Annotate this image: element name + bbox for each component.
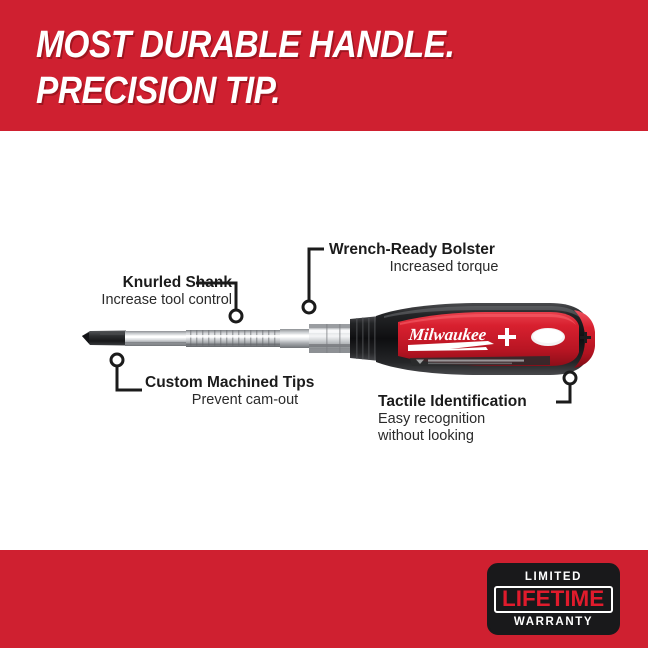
callout-tactile-identification: Tactile Identification Easy recognition … xyxy=(378,393,578,445)
callout-knurled-shank: Knurled Shank Increase tool control xyxy=(62,274,232,309)
callout-knurled-shank-subtitle: Increase tool control xyxy=(62,292,232,309)
callout-tactile-identification-subtitle: Easy recognition xyxy=(378,411,578,428)
svg-text:Milwaukee: Milwaukee xyxy=(407,325,488,344)
callout-wrench-ready-bolster-subtitle: Increased torque xyxy=(329,259,559,276)
limited-lifetime-warranty-badge: LIMITED LIFETIME WARRANTY xyxy=(487,563,620,635)
warranty-badge-top-text: LIMITED xyxy=(525,570,582,584)
callout-custom-machined-tips: Custom Machined Tips Prevent cam-out xyxy=(145,374,345,409)
warranty-badge-middle-box: LIFETIME xyxy=(494,586,613,613)
warranty-badge-bottom-text: WARRANTY xyxy=(514,615,593,629)
screwdriver-knurled-section xyxy=(186,330,282,347)
header-band: MOST DURABLE HANDLE. PRECISION TIP. xyxy=(0,0,648,131)
headline-line-2: PRECISION TIP. xyxy=(36,68,546,114)
callout-tactile-identification-subtitle-2: without looking xyxy=(378,428,578,445)
warranty-badge-middle-text: LIFETIME xyxy=(502,588,604,610)
screwdriver-shank xyxy=(125,331,187,346)
handle-collar xyxy=(350,316,380,361)
product-infographic: MOST DURABLE HANDLE. PRECISION TIP. xyxy=(0,0,648,648)
callout-custom-machined-tips-title: Custom Machined Tips xyxy=(145,374,345,392)
callout-wrench-ready-bolster: Wrench-Ready Bolster Increased torque xyxy=(329,241,559,276)
wrench-ready-bolster xyxy=(309,324,353,353)
headline-line-1: MOST DURABLE HANDLE. xyxy=(36,22,546,68)
headline: MOST DURABLE HANDLE. PRECISION TIP. xyxy=(36,22,616,114)
leader-wrench xyxy=(309,249,324,301)
screwdriver-tip xyxy=(82,331,126,346)
screwdriver-product-image: Milwaukee xyxy=(80,300,600,380)
callout-wrench-ready-bolster-title: Wrench-Ready Bolster xyxy=(329,241,559,259)
callout-custom-machined-tips-subtitle: Prevent cam-out xyxy=(145,392,345,409)
callout-knurled-shank-title: Knurled Shank xyxy=(62,274,232,292)
screwdriver-shank-upper xyxy=(280,329,312,348)
callout-tactile-identification-title: Tactile Identification xyxy=(378,393,578,411)
